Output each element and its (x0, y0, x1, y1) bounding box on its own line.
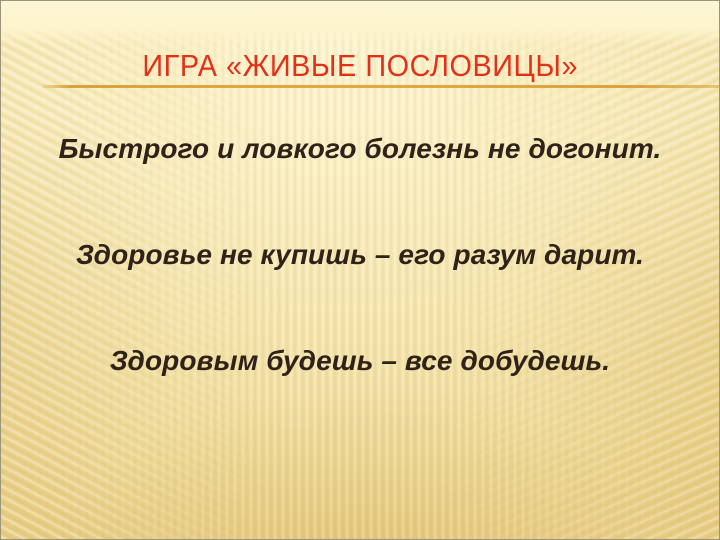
proverb-item: Быстрого и ловкого болезнь не догонит. (45, 129, 675, 168)
proverb-item: Здоровье не купишь – его разум дарит. (45, 235, 675, 274)
proverb-item: Здоровым будешь – все добудешь. (45, 341, 675, 380)
proverb-list: Быстрого и ловкого болезнь не догонит. З… (45, 129, 675, 380)
slide-content: Игра «Живые пословицы» Быстрого и ловког… (1, 1, 719, 539)
title-block: Игра «Живые пословицы» (1, 49, 719, 83)
slide-title: Игра «Живые пословицы» (142, 49, 578, 83)
proverb-spacer (45, 168, 675, 235)
presentation-slide: Игра «Живые пословицы» Быстрого и ловког… (0, 0, 720, 540)
title-underline-rule (43, 85, 719, 88)
proverb-spacer (45, 274, 675, 341)
